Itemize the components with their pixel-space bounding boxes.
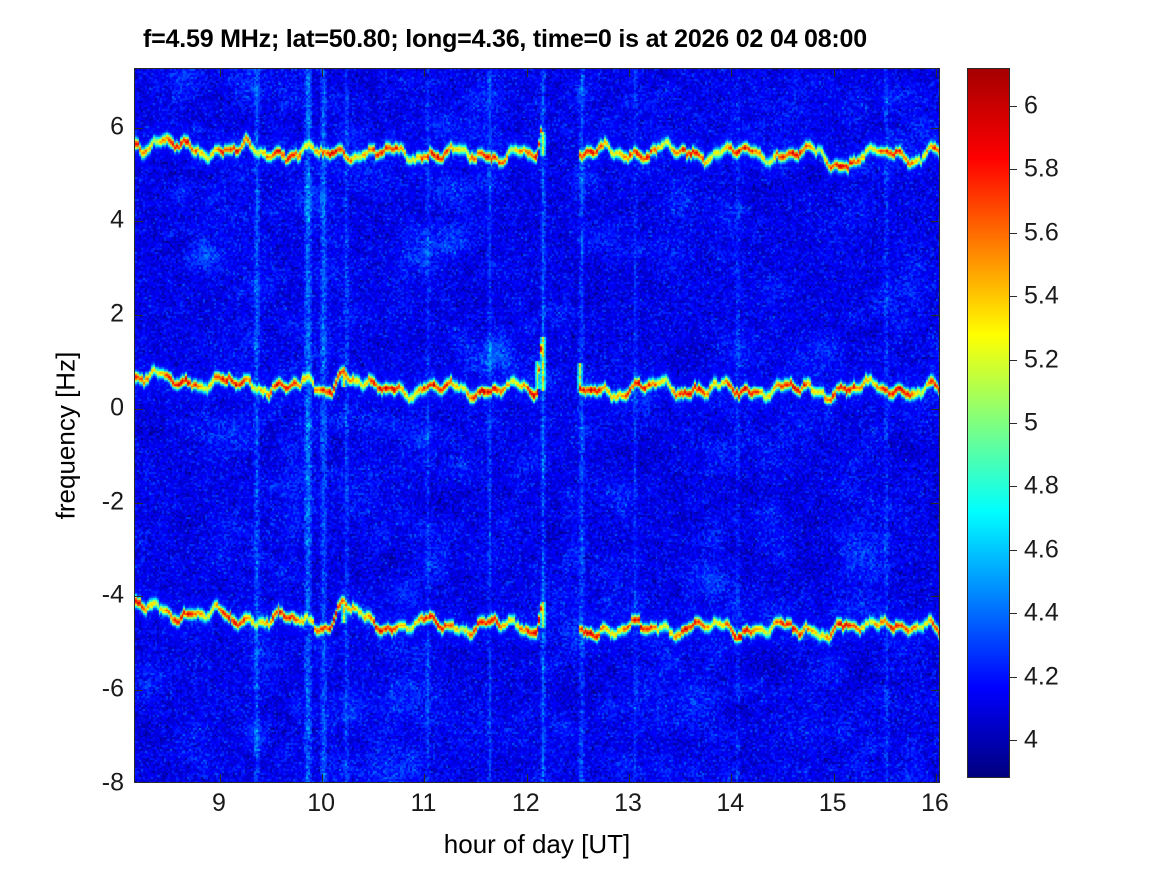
colorbar-gradient [968,69,1009,777]
y-tick-label: 4 [64,206,124,235]
x-tick-mark [834,69,835,77]
x-tick-label: 16 [900,789,970,818]
colorbar-tick-mark [1010,360,1017,361]
y-tick-mark [135,503,143,504]
x-tick-mark [936,774,937,782]
y-tick-mark [135,690,143,691]
y-axis-label: frequency [Hz] [51,305,82,565]
x-tick-mark [220,69,221,77]
x-tick-mark [936,69,937,77]
y-tick-mark [931,409,939,410]
colorbar-tick-label: 5.4 [1024,282,1059,311]
colorbar-tick-mark [1010,550,1017,551]
x-tick-mark [731,69,732,77]
colorbar-tick-mark [1010,740,1017,741]
x-tick-label: 11 [388,789,458,818]
x-tick-mark [220,774,221,782]
colorbar-tick-mark [1010,423,1017,424]
x-axis-tick-labels: 910111213141516 [134,789,940,829]
colorbar-tick-mark [1010,677,1017,678]
x-tick-mark [322,774,323,782]
x-tick-mark [629,69,630,77]
spectrogram-plot-area[interactable] [134,68,940,783]
y-tick-mark [135,409,143,410]
x-tick-label: 10 [286,789,356,818]
colorbar-tick-labels: 65.85.65.45.254.84.64.44.24 [1010,68,1160,778]
y-tick-mark [135,596,143,597]
colorbar[interactable] [967,68,1010,778]
x-tick-mark [834,774,835,782]
colorbar-tick-label: 4.8 [1024,472,1059,501]
figure-title: f=4.59 MHz; lat=50.80; long=4.36, time=0… [0,25,1010,54]
colorbar-tick-mark [1010,296,1017,297]
y-tick-mark [931,690,939,691]
colorbar-tick-label: 4.4 [1024,599,1059,628]
x-tick-label: 12 [491,789,561,818]
x-tick-mark [629,774,630,782]
spectrogram-figure: f=4.59 MHz; lat=50.80; long=4.36, time=0… [0,0,1167,875]
y-tick-label: -6 [64,675,124,704]
colorbar-tick-label: 4 [1024,725,1038,754]
y-tick-label: -4 [64,581,124,610]
y-tick-label: -8 [64,769,124,798]
x-tick-mark [527,774,528,782]
colorbar-tick-mark [1010,233,1017,234]
x-tick-label: 14 [695,789,765,818]
x-tick-mark [424,69,425,77]
colorbar-tick-label: 4.2 [1024,662,1059,691]
x-tick-label: 9 [184,789,254,818]
colorbar-tick-label: 5.8 [1024,155,1059,184]
y-tick-mark [931,315,939,316]
x-axis-label: hour of day [UT] [134,829,940,860]
colorbar-tick-mark [1010,613,1017,614]
y-tick-mark [135,128,143,129]
colorbar-tick-mark [1010,169,1017,170]
x-tick-mark [322,69,323,77]
colorbar-tick-mark [1010,106,1017,107]
x-tick-mark [527,69,528,77]
x-tick-mark [424,774,425,782]
y-tick-mark [931,503,939,504]
colorbar-tick-label: 5.2 [1024,345,1059,374]
x-tick-mark [731,774,732,782]
spectrogram-image [135,69,940,783]
y-tick-mark [931,596,939,597]
colorbar-tick-mark [1010,486,1017,487]
y-tick-mark [931,128,939,129]
colorbar-tick-label: 5 [1024,409,1038,438]
colorbar-tick-label: 6 [1024,92,1038,121]
y-tick-mark [135,221,143,222]
y-tick-mark [931,221,939,222]
x-tick-label: 13 [593,789,663,818]
x-tick-label: 15 [798,789,868,818]
y-tick-mark [135,315,143,316]
y-tick-label: 6 [64,112,124,141]
colorbar-tick-label: 4.6 [1024,535,1059,564]
colorbar-tick-label: 5.6 [1024,218,1059,247]
